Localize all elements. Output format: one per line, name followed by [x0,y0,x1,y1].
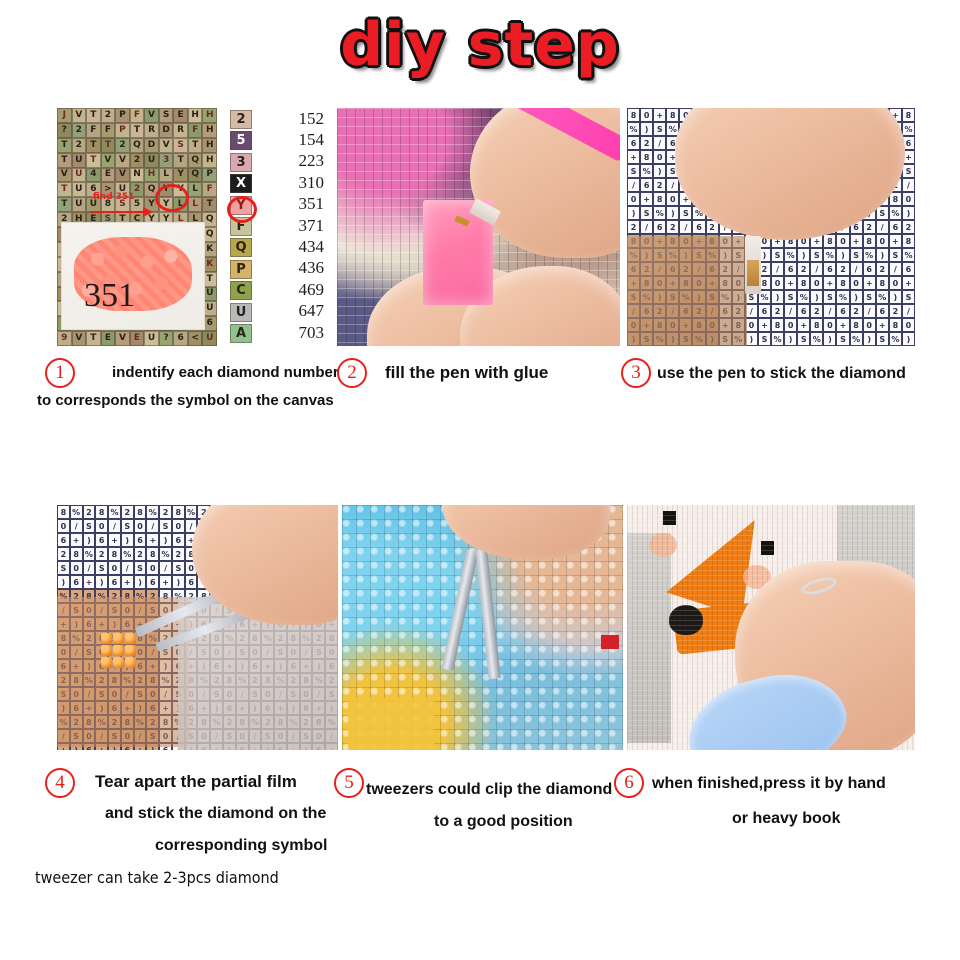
chart-cell: F [130,108,145,123]
canvas-symbol-cell: 2 [889,304,902,318]
chart-cell: Y [159,182,174,197]
canvas-symbol-cell: + [836,318,849,332]
chart-cell: T [188,138,203,153]
canvas-symbol-cell: S [758,332,771,346]
canvas-symbol-cell: 2 [121,505,134,519]
canvas-symbol-cell: ) [850,290,863,304]
canvas-symbol-cell: 2 [57,547,70,561]
canvas-symbol-cell: 6 [836,304,849,318]
canvas-symbol-cell: 0 [823,318,836,332]
chart-cell: E [101,331,116,346]
legend-symbol: U [230,303,252,322]
canvas-symbol-cell: 0 [902,192,915,206]
canvas-symbol-cell: 2 [653,178,666,192]
chart-cell: J [57,108,72,123]
canvas-symbol-cell: 0 [863,318,876,332]
canvas-symbol-cell: 6 [640,178,653,192]
canvas-symbol-cell: 6 [863,262,876,276]
steps-row-bottom: 8%28%28%28%28%28%28%280/S0/S0/S0/S0/S0/S… [0,505,960,750]
canvas-symbol-cell: + [758,318,771,332]
canvas-symbol-cell: + [823,276,836,290]
canvas-symbol-cell: 6 [889,220,902,234]
canvas-symbol-cell: 0 [784,318,797,332]
chart-cell: V [72,331,87,346]
canvas-symbol-cell: / [784,304,797,318]
canvas-symbol-cell: ) [823,332,836,346]
legend-symbol: 5 [230,131,252,150]
chart-cell: U [72,182,87,197]
step-number-4: 4 [45,768,75,798]
canvas-symbol-cell: ) [771,290,784,304]
canvas-symbol-cell: / [850,262,863,276]
canvas-symbol-cell: % [797,290,810,304]
canvas-symbol-cell: + [640,192,653,206]
chart-cell: V [115,331,130,346]
canvas-symbol-cell: 8 [653,192,666,206]
photo-tweezers-clip [342,505,623,750]
chart-cell: T [57,182,72,197]
chart-cell: U [144,331,159,346]
canvas-symbol-cell: 8 [771,318,784,332]
chart-cell: T [86,108,101,123]
chart-cell: H [202,108,217,123]
canvas-symbol-cell: S [810,248,823,262]
canvas-symbol-cell: 6 [108,575,121,589]
canvas-symbol-cell: + [797,318,810,332]
color-number: 647 [262,301,324,322]
chart-cell: U [72,197,87,212]
chart-cell: 2 [72,123,87,138]
canvas-symbol-cell: / [121,561,134,575]
canvas-symbol-cell: 6 [95,533,108,547]
chart-cell: F [202,182,217,197]
chart-cell: ? [57,123,72,138]
canvas-symbol-cell: 8 [146,547,159,561]
canvas-symbol-cell: 0 [850,276,863,290]
canvas-symbol-cell: 6 [692,220,705,234]
chart-cell: R [173,123,188,138]
canvas-symbol-cell: % [640,164,653,178]
canvas-symbol-cell: 8 [836,276,849,290]
canvas-symbol-cell: 0 [134,519,147,533]
canvas-symbol-cell: 0 [57,519,70,533]
canvas-symbol-cell: / [640,220,653,234]
chart-cell: T [202,197,217,212]
canvas-symbol-cell: 0 [70,561,83,575]
color-number: 469 [262,279,324,300]
canvas-symbol-cell: 6 [172,533,185,547]
bead [101,645,112,656]
canvas-symbol-cell: S [134,561,147,575]
canvas-symbol-cell: 8 [863,234,876,248]
canvas-symbol-cell: / [771,262,784,276]
canvas-symbol-cell: / [876,220,889,234]
bead [125,645,136,656]
chart-cell: S [173,138,188,153]
canvas-symbol-cell: ) [784,332,797,346]
canvas-symbol-cell: ) [95,575,108,589]
symbol-chart: JVT2PFVSEHH?2FFPTRDRFHT2TT2QDVSTHTUTVV2U… [57,108,217,346]
chart-cell: V [72,108,87,123]
legend-symbol: 2 [230,110,252,129]
chart-cell: 2 [130,153,145,168]
canvas-symbol-cell: / [70,519,83,533]
canvas-symbol-cell: 2 [159,505,172,519]
canvas-symbol-cell: 0 [653,150,666,164]
canvas-symbol-cell: 2 [666,220,679,234]
chart-cell: L [188,182,203,197]
canvas-symbol-cell: 0 [95,519,108,533]
canvas-symbol-cell: 8 [823,234,836,248]
bead [101,657,112,668]
chart-cell: V [115,168,130,183]
canvas-symbol-cell: + [889,234,902,248]
chart-cell: E [130,331,145,346]
chart-cell: T [130,123,145,138]
canvas-symbol-cell: ) [902,332,915,346]
find-annotation: find 351 [93,192,134,202]
chart-cell: 6 [173,331,188,346]
canvas-symbol-cell: ) [134,575,147,589]
chart-cell: T [173,153,188,168]
step-1-line-1: indentify each diamond number [112,360,339,386]
chart-cell: Q [188,168,203,183]
legend-symbol: Q [230,238,252,257]
canvas-symbol-cell: 6 [784,262,797,276]
chart-cell: T [57,138,72,153]
chart-cell: T [57,153,72,168]
canvas-symbol-cell: ) [666,206,679,220]
canvas-symbol-cell: 2 [95,547,108,561]
photo-press-finished [627,505,915,750]
bead [101,633,112,644]
chart-cell: Q [188,153,203,168]
canvas-symbol-cell: 0 [902,318,915,332]
canvas-symbol-cell: + [627,150,640,164]
canvas-symbol-cell: 6 [146,575,159,589]
canvas-symbol-cell: ) [876,248,889,262]
legend-symbol: X [230,174,252,193]
bead [113,633,124,644]
canvas-symbol-cell: + [121,575,134,589]
canvas-symbol-cell: S [784,290,797,304]
chart-cell: U [202,331,217,346]
canvas-symbol-cell: 6 [70,575,83,589]
canvas-symbol-cell: S [640,206,653,220]
placed-diamonds [101,633,136,668]
chart-cell: 4 [86,168,101,183]
step-5-line-2: to a good position [434,809,573,835]
step-number-1: 1 [45,358,75,388]
canvas-symbol-cell: + [863,276,876,290]
canvas-symbol-cell: 0 [836,234,849,248]
step-3-line-1: use the pen to stick the diamond [657,361,906,387]
panel-use-pen-stick-diamond: 80+80+80+80+80+80+80+8%)S%)S%)S%)S%)S%)S… [627,108,915,346]
chart-cell: V [101,153,116,168]
canvas-symbol-cell: S [627,164,640,178]
canvas-symbol-cell: S [95,561,108,575]
color-number: 703 [262,322,324,343]
step-6-line-1: when finished,press it by hand [652,771,886,797]
canvas-symbol-cell: 2 [850,304,863,318]
step-6-line-2: or heavy book [732,806,840,832]
canvas-symbol-cell: % [850,332,863,346]
canvas-symbol-cell: 2 [771,304,784,318]
canvas-symbol-cell: 6 [185,575,198,589]
canvas-symbol-cell: / [653,136,666,150]
canvas-symbol-cell: 8 [627,108,640,122]
canvas-symbol-cell: 8 [70,547,83,561]
chart-cell: 3 [159,153,174,168]
chart-cell: Y [159,197,174,212]
canvas-symbol-cell: % [889,206,902,220]
canvas-symbol-cell: ) [836,248,849,262]
canvas-symbol-cell: + [108,533,121,547]
canvas-symbol-cell: / [902,304,915,318]
canvas-symbol-cell: 2 [172,547,185,561]
canvas-symbol-cell: % [784,248,797,262]
step-number-3: 3 [621,358,651,388]
canvas-symbol-cell: 8 [57,505,70,519]
bead [125,633,136,644]
chart-cell: Y [173,168,188,183]
legend-symbol: F [230,217,252,236]
canvas-symbol-cell: / [83,561,96,575]
canvas-symbol-cell: / [679,220,692,234]
canvas-symbol-cell: 2 [876,262,889,276]
canvas-symbol-cell: 0 [666,192,679,206]
color-number: 371 [262,215,324,236]
step-number-2: 2 [337,358,367,388]
chart-cell: L [188,197,203,212]
chart-cell: E [101,168,116,183]
canvas-symbol-cell: + [159,575,172,589]
panel-tweezers-clip-diamond [342,505,623,750]
chart-cell: T [86,331,101,346]
page-title: diy step [340,10,620,80]
canvas-symbol-cell: / [810,262,823,276]
chart-cell: H [202,138,217,153]
canvas-symbol-cell: ) [889,290,902,304]
canvas-symbol-cell: + [876,318,889,332]
canvas-symbol-cell: % [863,248,876,262]
canvas-symbol-cell: 0 [146,561,159,575]
canvas-symbol-cell: 6 [902,262,915,276]
step-1-line-2: to corresponds the symbol on the canvas [37,388,334,414]
canvas-symbol-cell: + [784,276,797,290]
canvas-symbol-cell: S [679,206,692,220]
canvas-symbol-cell: 8 [889,318,902,332]
step-4-line-1: Tear apart the partial film [95,769,297,795]
chart-cell: Q [130,138,145,153]
chart-cell: ? [159,331,174,346]
canvas-symbol-cell: ) [83,533,96,547]
canvas-symbol-cell: 2 [640,136,653,150]
canvas-symbol-cell: % [810,332,823,346]
yellow-diamond-area [348,698,434,750]
canvas-symbol-cell: 8 [876,276,889,290]
legend-symbol: P [230,260,252,279]
canvas-symbol-cell: 0 [108,561,121,575]
canvas-symbol-cell: 8 [850,318,863,332]
canvas-symbol-cell: / [889,262,902,276]
chart-cell: N [130,168,145,183]
panel-tear-partial-film: 8%28%28%28%28%28%28%280/S0/S0/S0/S0/S0/S… [57,505,338,750]
canvas-symbol-cell: 6 [57,533,70,547]
canvas-symbol-cell: % [889,332,902,346]
canvas-symbol-cell: % [121,547,134,561]
chart-cell: < [188,331,203,346]
chart-cell: P [115,123,130,138]
chart-cell: V [57,168,72,183]
chart-cell: T [57,197,72,212]
canvas-symbol-cell: 2 [83,505,96,519]
canvas-symbol-cell: % [70,505,83,519]
canvas-symbol-cell: ) [863,332,876,346]
canvas-symbol-cell: % [83,547,96,561]
color-number: 434 [262,236,324,257]
panel-press-finished [627,505,915,750]
canvas-symbol-cell: % [823,248,836,262]
red-diamond [601,635,619,649]
canvas-symbol-cell: % [159,547,172,561]
canvas-symbol-cell: ) [653,164,666,178]
canvas-symbol-cell: 0 [810,276,823,290]
diamond-bag: 351 [61,222,205,330]
step-4-line-2: and stick the diamond on the [105,801,326,827]
canvas-symbol-cell: S [889,248,902,262]
canvas-symbol-cell: 2 [134,547,147,561]
canvas-symbol-cell: + [70,533,83,547]
canvas-symbol-cell: + [83,575,96,589]
chart-cell: L [173,197,188,212]
canvas-symbol-cell: % [108,505,121,519]
canvas-symbol-cell: ) [640,122,653,136]
canvas-symbol-cell: 0 [627,192,640,206]
canvas-symbol-cell: 0 [640,108,653,122]
color-number: 152 [262,108,324,129]
bead [113,657,124,668]
canvas-symbol-cell: S [797,332,810,346]
canvas-symbol-cell: S [863,290,876,304]
canvas-symbol-cell: ) [902,206,915,220]
legend-symbol: C [230,281,252,300]
canvas-symbol-cell: S [83,519,96,533]
canvas-symbol-cell: ) [627,206,640,220]
canvas-symbol-cell: S [850,248,863,262]
canvas-symbol-cell: S [653,122,666,136]
chart-cell: V [159,138,174,153]
canvas-symbol-cell: S [771,248,784,262]
canvas-symbol-cell: / [146,519,159,533]
canvas-symbol-cell: / [823,304,836,318]
canvas-symbol-cell: 2 [797,262,810,276]
page-header: diy step [0,0,960,90]
chart-cell: T [86,138,101,153]
canvas-symbol-cell: ) [57,575,70,589]
chart-cell: P [115,108,130,123]
canvas-symbol-cell: % [185,505,198,519]
symbol-legend-column: 253XYFQPCUA [224,108,258,346]
canvas-symbol-cell: ) [172,575,185,589]
canvas-symbol-cell: % [653,206,666,220]
chart-cell: Q [144,182,159,197]
canvas-symbol-cell: S [57,561,70,575]
canvas-symbol-cell: 2 [627,220,640,234]
chart-cell: U [144,153,159,168]
canvas-symbol-cell: 2 [863,220,876,234]
canvas-symbol-cell: + [653,108,666,122]
canvas-symbol-cell: 6 [627,136,640,150]
photo-fill-pen [337,108,620,346]
chart-cell: Y [173,182,188,197]
bag-number-label: 351 [84,277,135,315]
chart-cell: 9 [57,331,72,346]
canvas-symbol-cell: 8 [95,505,108,519]
chart-cell: F [101,123,116,138]
canvas-symbol-cell: 0 [889,276,902,290]
canvas-symbol-cell: 8 [172,505,185,519]
chart-cell: V [115,153,130,168]
canvas-symbol-cell: ) [797,248,810,262]
chart-cell: T [101,138,116,153]
canvas-symbol-cell: 2 [902,220,915,234]
step-4-line-4: tweezer can take 2-3pcs diamond [35,865,279,891]
canvas-symbol-cell: ) [121,533,134,547]
color-number: 351 [262,194,324,215]
canvas-symbol-cell: % [902,122,915,136]
canvas-symbol-cell: 8 [134,505,147,519]
legend-symbol: 3 [230,153,252,172]
canvas-symbol-cell: S [902,164,915,178]
step-5-line-1: tweezers could clip the diamond [366,777,612,803]
chart-cell: R [144,123,159,138]
step-number-5: 5 [334,768,364,798]
photo-tear-film: 8%28%28%28%28%28%28%280/S0/S0/S0/S0/S0/S… [57,505,338,750]
canvas-brown-area [627,236,747,346]
chart-cell: H [202,153,217,168]
chart-cell: D [144,138,159,153]
color-number: 436 [262,258,324,279]
canvas-symbol-cell: 6 [797,304,810,318]
canvas-symbol-cell: 8 [108,547,121,561]
steps-row-top: JVT2PFVSEHH?2FFPTRDRFHT2TT2QDVSTHTUTVV2U… [0,108,960,346]
photo-stick-diamond: 80+80+80+80+80+80+80+8%)S%)S%)S%)S%)S%)S… [627,108,915,346]
canvas-symbol-cell: 8 [810,318,823,332]
canvas-symbol-cell: + [902,276,915,290]
canvas-symbol-cell: 8 [640,150,653,164]
chart-cell: H [144,168,159,183]
canvas-symbol-cell: / [627,178,640,192]
canvas-symbol-cell: S [159,519,172,533]
canvas-symbol-cell: S [823,290,836,304]
canvas-symbol-cell: / [902,178,915,192]
panel-identify-diamond-number: JVT2PFVSEHH?2FFPTRDRFHT2TT2QDVSTHTUTVV2U… [57,108,335,346]
step-number-6: 6 [614,768,644,798]
canvas-symbol-cell: / [159,561,172,575]
canvas-symbol-cell: / [863,304,876,318]
step-2-line-1: fill the pen with glue [385,360,548,386]
chart-cell: 2 [72,138,87,153]
canvas-symbol-cell: 2 [810,304,823,318]
chart-cell: V [144,108,159,123]
canvas-symbol-cell: 0 [172,519,185,533]
panel-fill-pen-with-glue [337,108,620,346]
canvas-symbol-cell: 8 [902,108,915,122]
canvas-symbol-cell: 2 [836,262,849,276]
chart-cell: L [159,168,174,183]
canvas-symbol-cell: 0 [876,234,889,248]
